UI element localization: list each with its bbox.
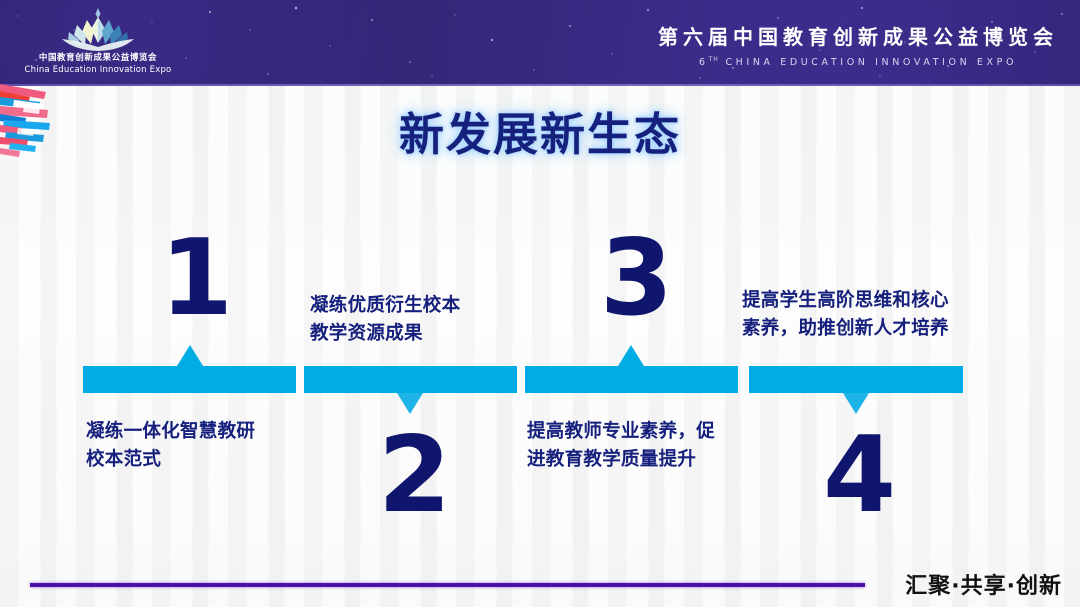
footer-divider bbox=[30, 583, 865, 587]
slide-canvas: 中国教育创新成果公益博览会 China Education Innovation… bbox=[0, 0, 1080, 607]
footer-slogan: 汇聚·共享·创新 bbox=[905, 568, 1062, 600]
timeline-number-4: 4 bbox=[823, 425, 896, 525]
timeline-arrow-up-1 bbox=[177, 345, 203, 366]
timeline-number-3: 3 bbox=[600, 228, 673, 328]
timeline-arrow-down-4 bbox=[843, 393, 869, 414]
timeline-arrow-up-3 bbox=[618, 345, 644, 366]
timeline-diagram: 1 凝练一体化智慧教研 校本范式 2 凝练优质衍生校本 教学资源成果 3 提高教… bbox=[0, 0, 1080, 607]
timeline-caption-3: 提高教师专业素养，促 进教育教学质量提升 bbox=[527, 418, 715, 474]
timeline-number-2: 2 bbox=[378, 425, 451, 525]
timeline-caption-1: 凝练一体化智慧教研 校本范式 bbox=[86, 418, 255, 474]
timeline-bar-1 bbox=[83, 366, 296, 393]
timeline-caption-2: 凝练优质衍生校本 教学资源成果 bbox=[310, 292, 460, 348]
timeline-caption-4: 提高学生高阶思维和核心 素养，助推创新人才培养 bbox=[742, 287, 949, 343]
timeline-bar-3 bbox=[525, 366, 738, 393]
timeline-bar-4 bbox=[749, 366, 963, 393]
timeline-arrow-down-2 bbox=[397, 393, 423, 414]
timeline-number-1: 1 bbox=[160, 228, 233, 328]
timeline-bar-2 bbox=[304, 366, 517, 393]
